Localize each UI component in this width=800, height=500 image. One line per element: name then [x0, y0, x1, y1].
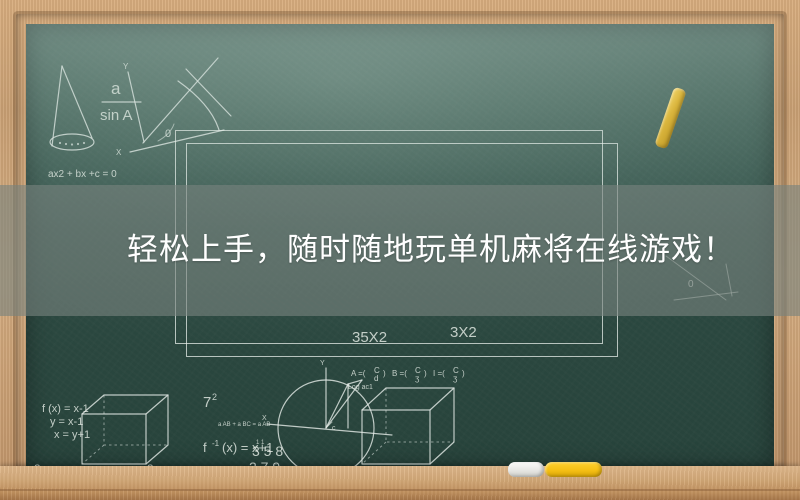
page-title: 轻松上手，随时随地玩单机麻将在线游戏！	[127, 235, 735, 266]
yellow-chalk-stick-tray	[545, 462, 602, 477]
white-chalk-stick	[508, 462, 544, 477]
banner-image: a sin A ax2 + bx +c = 0 Y X 0	[0, 0, 800, 500]
chalk-ledge	[0, 466, 800, 500]
chalk-ledge-lip	[0, 489, 800, 491]
headline-overlay-band: 轻松上手，随时随地玩单机麻将在线游戏！	[0, 185, 800, 316]
